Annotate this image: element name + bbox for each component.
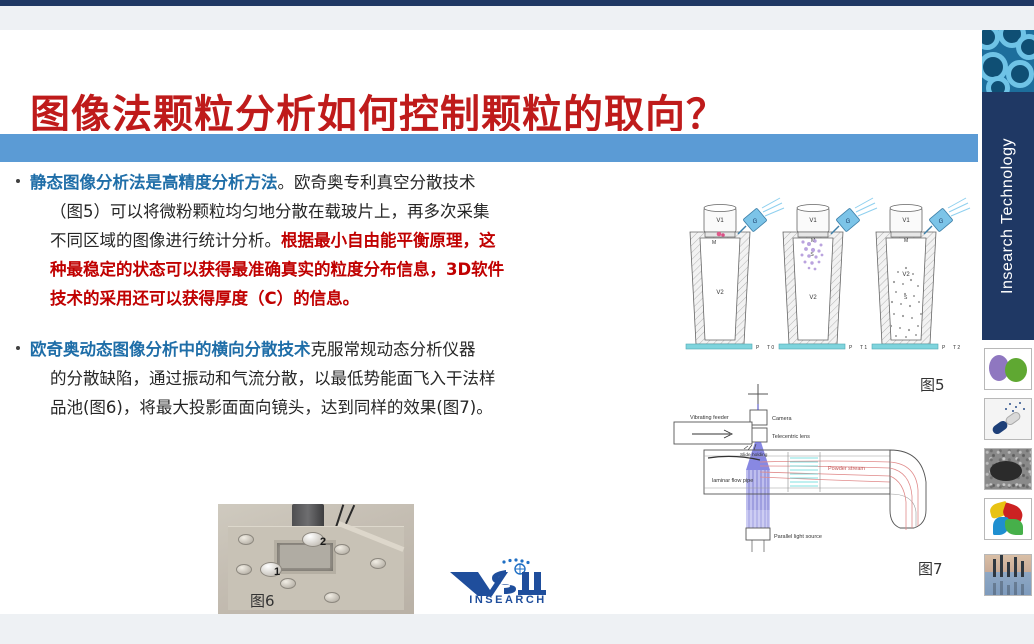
- bullet-2-line-3-seg-1: 品池(图6)，将最大投影面面向镜头，达到同样的效果(图7)。: [50, 398, 493, 417]
- bullet-1-line-2: （图5）可以将微粉颗粒均匀地分散在载玻片上，再多次采集: [30, 197, 690, 226]
- sidebar-thumb-refinery-plant[interactable]: [984, 554, 1032, 596]
- smokestack-shape: [1021, 561, 1024, 577]
- sidebar-brand-band: Insearch Technology: [982, 92, 1034, 340]
- molecule-lobe-icon: [1005, 358, 1027, 382]
- figure-6-photo: 1 2: [218, 504, 414, 614]
- screw-part: [370, 558, 386, 569]
- sidebar-thumb-capsule-powder[interactable]: [984, 398, 1032, 440]
- water-reflection-shape: [993, 583, 996, 595]
- pore-cell-shape: [1006, 60, 1034, 88]
- sidebar-brand-text: Insearch Technology: [999, 138, 1017, 294]
- bullet-1-line-4-seg-1: 种最稳定的状态可以获得最准确真实的粒度分布信息，3D软件: [50, 260, 504, 279]
- svg-text:M: M: [904, 238, 908, 244]
- bullet-1-line-3: 不同区域的图像进行统计分析。根据最小自由能平衡原理，这: [30, 226, 690, 255]
- svg-text:P: P: [756, 345, 760, 351]
- svg-text:V2: V2: [902, 272, 910, 278]
- title-area: 图像法颗粒分析如何控制颗粒的取向？: [0, 30, 978, 130]
- svg-text:T 2: T 2: [953, 345, 960, 351]
- powder-speck-icon: [1005, 408, 1007, 410]
- svg-text:Vibrating feeder: Vibrating feeder: [690, 415, 729, 421]
- svg-text:G: G: [846, 219, 851, 225]
- bullet-2-line-2: 的分散缺陷，通过振动和气流分散，以最低势能面飞入干法样: [30, 364, 690, 393]
- screw-part: [280, 578, 296, 589]
- bullet-1-line-1-seg-1: 静态图像分析法是高精度分析方法: [30, 173, 278, 192]
- bottom-gray-band: [0, 614, 1034, 644]
- bullet-1-line-5-seg-1: 技术的采用还可以获得厚度（C）的信息。: [50, 289, 359, 308]
- bullet-1-line-3-seg-1: 不同区域的图像进行统计分析。: [50, 231, 281, 250]
- top-gray-band: [0, 6, 1034, 30]
- water-reflection-shape: [1021, 584, 1024, 595]
- svg-text:P: P: [942, 345, 946, 351]
- sidebar-thumb-protein-molecule[interactable]: [984, 348, 1032, 390]
- water-reflection-shape: [1000, 581, 1003, 595]
- bullet-2-line-1: 欧奇奥动态图像分析中的横向分散技术克服常规动态分析仪器: [30, 335, 690, 364]
- screw-part: [324, 592, 340, 603]
- sidebar-header-image: [982, 30, 1034, 92]
- svg-text:Camera: Camera: [772, 416, 793, 422]
- screw-part: [238, 534, 254, 545]
- svg-text:P: P: [849, 345, 853, 351]
- svg-text:G: G: [939, 219, 944, 225]
- svg-text:V1: V1: [809, 218, 817, 224]
- water-reflection-shape: [1014, 582, 1017, 595]
- svg-text:T 0: T 0: [767, 345, 774, 351]
- powder-speck-icon: [1015, 406, 1017, 408]
- screw-part: [334, 544, 350, 555]
- bullet-2-line-2-seg-1: 的分散缺陷，通过振动和气流分散，以最低势能面飞入干法样: [50, 369, 496, 388]
- powder-speck-icon: [1023, 408, 1025, 410]
- slide-canvas: 图像法颗粒分析如何控制颗粒的取向？ 静态图像分析法是高精度分析方法。欧奇奥专利真…: [0, 0, 1034, 644]
- svg-text:laminar flow pipe: laminar flow pipe: [712, 478, 753, 484]
- svg-text:V2: V2: [809, 295, 817, 301]
- powder-speck-icon: [1019, 402, 1021, 404]
- title-blue-bar: [0, 134, 978, 162]
- pore-cell-shape: [1016, 34, 1034, 60]
- bullet-marker-icon: [16, 346, 20, 350]
- figure-6-callout-1: 1: [274, 566, 280, 578]
- smokestack-shape: [993, 559, 996, 577]
- svg-text:M: M: [712, 240, 716, 246]
- svg-text:V1: V1: [902, 218, 910, 224]
- bullet-1-line-4: 种最稳定的状态可以获得最准确真实的粒度分布信息，3D软件: [30, 255, 690, 284]
- glass-slide-part: [280, 545, 330, 568]
- bullet-1-line-1: 静态图像分析法是高精度分析方法。欧奇奥专利真空分散技术: [30, 168, 690, 197]
- sidebar-thumb-carbon-black-sem[interactable]: [984, 448, 1032, 490]
- screw-part: [236, 564, 252, 575]
- bullet-1-line-1-seg-2: 。欧奇奥专利真空分散技术: [278, 173, 476, 192]
- bullet-1-line-3-seg-2: 根据最小自由能平衡原理，这: [281, 231, 496, 250]
- svg-text:Powder stream: Powder stream: [828, 466, 865, 472]
- bullet-2-line-1-seg-1: 欧奇奥动态图像分析中的横向分散技术: [30, 340, 311, 359]
- logo-wordmark: INSEARCH: [448, 594, 568, 606]
- bullet-1-line-5: 技术的采用还可以获得厚度（C）的信息。: [30, 284, 690, 313]
- bullet-2-line-3: 品池(图6)，将最大投影面面向镜头，达到同样的效果(图7)。: [30, 393, 690, 422]
- figure-7-diagram: Camera Telecentric lens Vibrating feeder: [668, 378, 978, 548]
- bullet-1-line-2-seg-1: （图5）可以将微粉颗粒均匀地分散在载玻片上，再多次采集: [50, 202, 490, 221]
- smokestack-shape: [1007, 562, 1010, 577]
- svg-text:V2: V2: [716, 290, 724, 296]
- paint-splash-shape: [1005, 519, 1023, 535]
- powder-speck-icon: [1009, 403, 1011, 405]
- agglomerate-particle-shape: [990, 461, 1022, 481]
- insearch-logo-mark: [448, 556, 568, 598]
- svg-text:Telecentric lens: Telecentric lens: [772, 434, 810, 440]
- bullet-marker-icon: [16, 179, 20, 183]
- company-logo: INSEARCH: [448, 556, 568, 608]
- sidebar-thumb-paint-pigment[interactable]: [984, 498, 1032, 540]
- svg-text:V1: V1: [716, 218, 724, 224]
- figure-5-diagram: V1 M V2 G P T 0: [672, 194, 972, 364]
- figure-6-caption: 图6: [250, 590, 275, 611]
- figure-7-caption: 图7: [918, 558, 943, 579]
- capsule-half-icon: [991, 419, 1009, 436]
- bullet-2-line-1-seg-2: 克服常规动态分析仪器: [311, 340, 476, 359]
- smokestack-shape: [1014, 557, 1017, 577]
- right-sidebar: Insearch Technology: [978, 30, 1034, 614]
- sample-cell-photograph: 1 2: [218, 504, 414, 614]
- bullet-item-1: 静态图像分析法是高精度分析方法。欧奇奥专利真空分散技术 （图5）可以将微粉颗粒均…: [0, 168, 690, 313]
- svg-text:G: G: [753, 219, 758, 225]
- svg-text:T 1: T 1: [860, 345, 867, 351]
- bullet-item-2: 欧奇奥动态图像分析中的横向分散技术克服常规动态分析仪器 的分散缺陷，通过振动和气…: [0, 335, 690, 422]
- smokestack-shape: [1000, 555, 1003, 577]
- figure-6-callout-2: 2: [320, 536, 326, 548]
- water-reflection-shape: [1007, 585, 1010, 595]
- svg-text:Parallel light source: Parallel light source: [774, 534, 822, 540]
